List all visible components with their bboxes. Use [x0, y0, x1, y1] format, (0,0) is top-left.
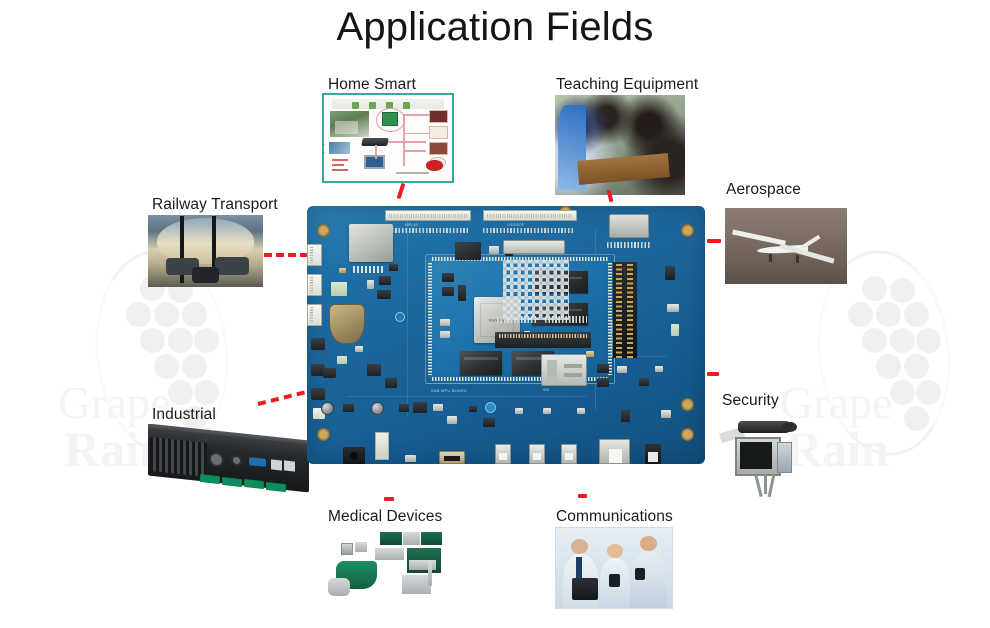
hdmi-port[interactable]	[439, 451, 465, 464]
field-image-home-smart	[322, 93, 454, 183]
wifi-module-shield	[349, 224, 393, 262]
pmic-chip	[455, 242, 481, 260]
silk-brand: SAB MPU BOARD	[431, 388, 467, 393]
silk-mipi: MIPI-A0	[405, 223, 418, 227]
board-to-board-connector[interactable]	[503, 240, 565, 254]
grape-cluster-icon	[826, 276, 948, 441]
mounting-hole	[681, 398, 694, 411]
mounting-hole	[681, 428, 694, 441]
micro-usb-port[interactable]	[405, 455, 416, 462]
arrow-industrial	[258, 390, 306, 405]
field-label-railway-transport: Railway Transport	[152, 196, 278, 214]
home-smart-board-chip	[382, 112, 399, 126]
left-connector-1[interactable]	[307, 244, 322, 266]
usb-port-1[interactable]	[495, 444, 511, 464]
field-label-home-smart: Home Smart	[328, 76, 416, 94]
tablet-icon	[572, 578, 598, 600]
arrow-aerospace	[707, 239, 721, 243]
fpc-connector-mipi[interactable]	[385, 210, 471, 221]
development-board[interactable]: MIPI-A0 LVDS/EDP	[307, 206, 705, 464]
brand-logo-icon	[485, 402, 496, 413]
field-label-industrial: Industrial	[152, 406, 216, 424]
mounting-hole	[317, 224, 330, 237]
field-image-teaching-equipment	[555, 95, 685, 195]
left-connector-2[interactable]	[307, 274, 322, 296]
page-title: Application Fields	[0, 2, 990, 52]
mini-pcie-slot[interactable]	[495, 332, 591, 348]
field-image-railway-transport	[148, 215, 263, 287]
ethernet-port[interactable]	[599, 439, 630, 464]
crystal	[331, 282, 347, 296]
field-image-security	[718, 408, 810, 498]
arrow-home-smart	[397, 183, 406, 199]
mounting-hole	[317, 428, 330, 441]
arrow-security	[707, 372, 719, 376]
led-matrix-pads	[503, 260, 569, 320]
emmc-chip	[460, 351, 502, 375]
field-label-medical-devices: Medical Devices	[328, 508, 442, 526]
silk-gpio: EXPANSION HEADER	[610, 320, 614, 356]
arrow-medical-devices	[384, 497, 394, 501]
sd-card-slot[interactable]	[609, 214, 649, 238]
home-smart-house-photo	[330, 111, 368, 137]
usb-port-2[interactable]	[529, 444, 545, 464]
audio-jack-1[interactable]	[311, 338, 325, 350]
audio-jack-3[interactable]	[311, 388, 325, 400]
field-label-aerospace: Aerospace	[726, 181, 801, 199]
field-image-aerospace	[725, 208, 847, 284]
dc-power-jack[interactable]	[343, 447, 365, 464]
left-connector-3[interactable]	[307, 304, 322, 326]
field-image-industrial	[145, 424, 313, 502]
field-image-medical-devices	[326, 527, 448, 609]
field-label-teaching-equipment: Teaching Equipment	[556, 76, 698, 94]
fpc-connector-lvds[interactable]	[483, 210, 577, 221]
silk-lvds: LVDS/EDP	[507, 223, 524, 227]
home-smart-alarm-icon	[426, 160, 443, 170]
mounting-hole	[681, 224, 694, 237]
phone-icon	[609, 574, 619, 587]
gpio-expansion-header[interactable]	[613, 262, 637, 358]
home-smart-wifi-node	[329, 142, 349, 154]
phone-icon	[635, 568, 645, 580]
power-button[interactable]	[375, 432, 389, 460]
field-label-communications: Communications	[556, 508, 673, 526]
sd-card-slot-bottom[interactable]	[645, 444, 661, 464]
usb-port-3[interactable]	[561, 444, 577, 464]
silk-sim: SIM	[543, 388, 549, 392]
field-image-communications	[555, 527, 673, 609]
coin-cell-holder	[329, 304, 365, 344]
sim-card-slot[interactable]	[541, 354, 587, 386]
arrow-railway-transport	[264, 253, 308, 257]
arrow-communications	[578, 494, 587, 498]
slide-canvas: Application Fields Grape Rain Grape Rain…	[0, 0, 990, 628]
